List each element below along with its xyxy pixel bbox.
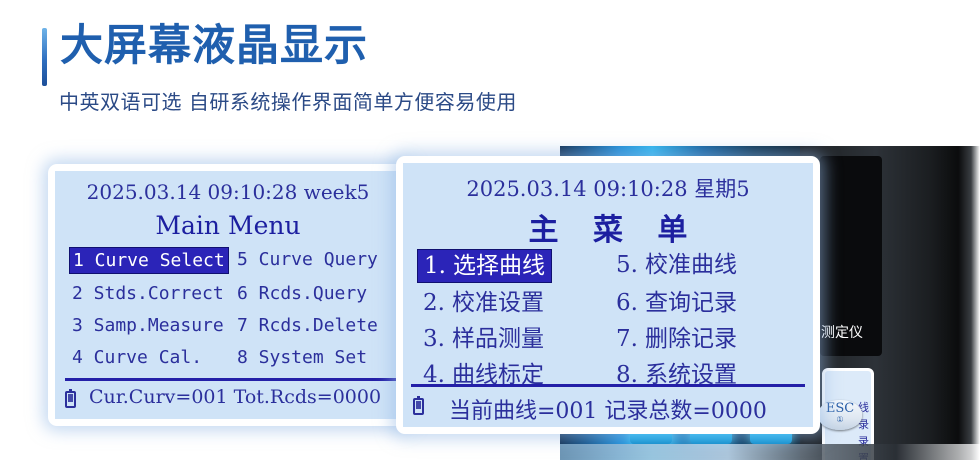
menu-item-number: 5. (616, 252, 638, 278)
esc-button-sublabel: ① (818, 416, 862, 424)
menu-item-label: 校准设置 (452, 290, 544, 316)
menu-item-stds-correct[interactable]: 2 Stds.Correct (69, 281, 227, 306)
menu-item-label: 删除记录 (645, 326, 737, 352)
battery-icon (413, 398, 424, 415)
lcd-panel-english: 2025.03.14 09:10:28 week5 Main Menu 1 Cu… (48, 164, 408, 426)
lcd-screen-chinese: 2025.03.14 09:10:28 星期5 主 菜 单 1.选择曲线 5.校… (403, 163, 813, 427)
menu-title-zh: 主 菜 单 (403, 205, 813, 249)
menu-item-system-set[interactable]: 8 System Set (234, 345, 370, 370)
menu-item-query-records[interactable]: 6.查询记录 (610, 287, 743, 319)
menu-item-calibration-curve[interactable]: 5.校准曲线 (610, 249, 743, 281)
menu-item-label: 校准曲线 (645, 252, 737, 278)
menu-item-label: 查询记录 (645, 290, 737, 316)
menu-item-sample-measure[interactable]: 3.样品测量 (417, 323, 550, 355)
esc-button[interactable]: ESC ① (818, 400, 862, 430)
main-menu-grid-zh: 1.选择曲线 5.校准曲线 2.校准设置 6.查询记录 3.样品测量 7.删除记… (417, 249, 803, 391)
headline-accent-bar (42, 28, 47, 86)
menu-item-samp-measure[interactable]: 3 Samp.Measure (69, 313, 227, 338)
lcd-divider-en (65, 378, 397, 381)
device-model-label: 测定仪 (821, 322, 885, 342)
menu-item-number: 6. (616, 290, 638, 316)
status-footer-zh: 当前曲线=001 记录总数=0000 (449, 393, 767, 425)
menu-item-rcds-query[interactable]: 6 Rcds.Query (234, 281, 370, 306)
header-section: 大屏幕液晶显示 中英双语可选 自研系统操作界面简单方便容易使用 (0, 0, 980, 140)
menu-item-curve-cal[interactable]: 4 Curve Cal. (69, 345, 205, 370)
menu-item-label: 选择曲线 (453, 253, 545, 279)
lcd-panel-chinese: 2025.03.14 09:10:28 星期5 主 菜 单 1.选择曲线 5.校… (396, 156, 820, 434)
battery-icon (65, 391, 76, 408)
status-footer-en: Cur.Curv=001 Tot.Rcds=0000 (89, 386, 381, 408)
menu-title-en: Main Menu (55, 211, 401, 240)
lcd-divider-zh (411, 384, 805, 387)
page-subtitle: 中英双语可选 自研系统操作界面简单方便容易使用 (59, 86, 517, 115)
status-datetime-zh: 2025.03.14 09:10:28 星期5 (403, 173, 813, 203)
main-menu-grid-en: 1 Curve Select 5 Curve Query 2 Stds.Corr… (69, 247, 399, 370)
menu-item-label: 样品测量 (452, 326, 544, 352)
menu-item-curve-query[interactable]: 5 Curve Query (234, 247, 381, 272)
menu-item-rcds-delete[interactable]: 7 Rcds.Delete (234, 313, 381, 338)
menu-item-delete-records[interactable]: 7.删除记录 (610, 323, 743, 355)
menu-item-curve-select[interactable]: 1 Curve Select (69, 247, 229, 274)
menu-item-number: 2. (423, 290, 445, 316)
menu-item-number: 1. (424, 253, 446, 279)
status-datetime-en: 2025.03.14 09:10:28 week5 (55, 180, 401, 204)
menu-item-number: 3. (423, 326, 445, 352)
esc-button-label: ESC (818, 400, 862, 416)
menu-item-select-curve[interactable]: 1.选择曲线 (417, 249, 552, 283)
lcd-screen-english: 2025.03.14 09:10:28 week5 Main Menu 1 Cu… (55, 171, 401, 419)
page-title: 大屏幕液晶显示 (60, 25, 368, 68)
device-base (560, 444, 980, 460)
menu-item-number: 7. (616, 326, 638, 352)
menu-item-calibration-setup[interactable]: 2.校准设置 (417, 287, 550, 319)
